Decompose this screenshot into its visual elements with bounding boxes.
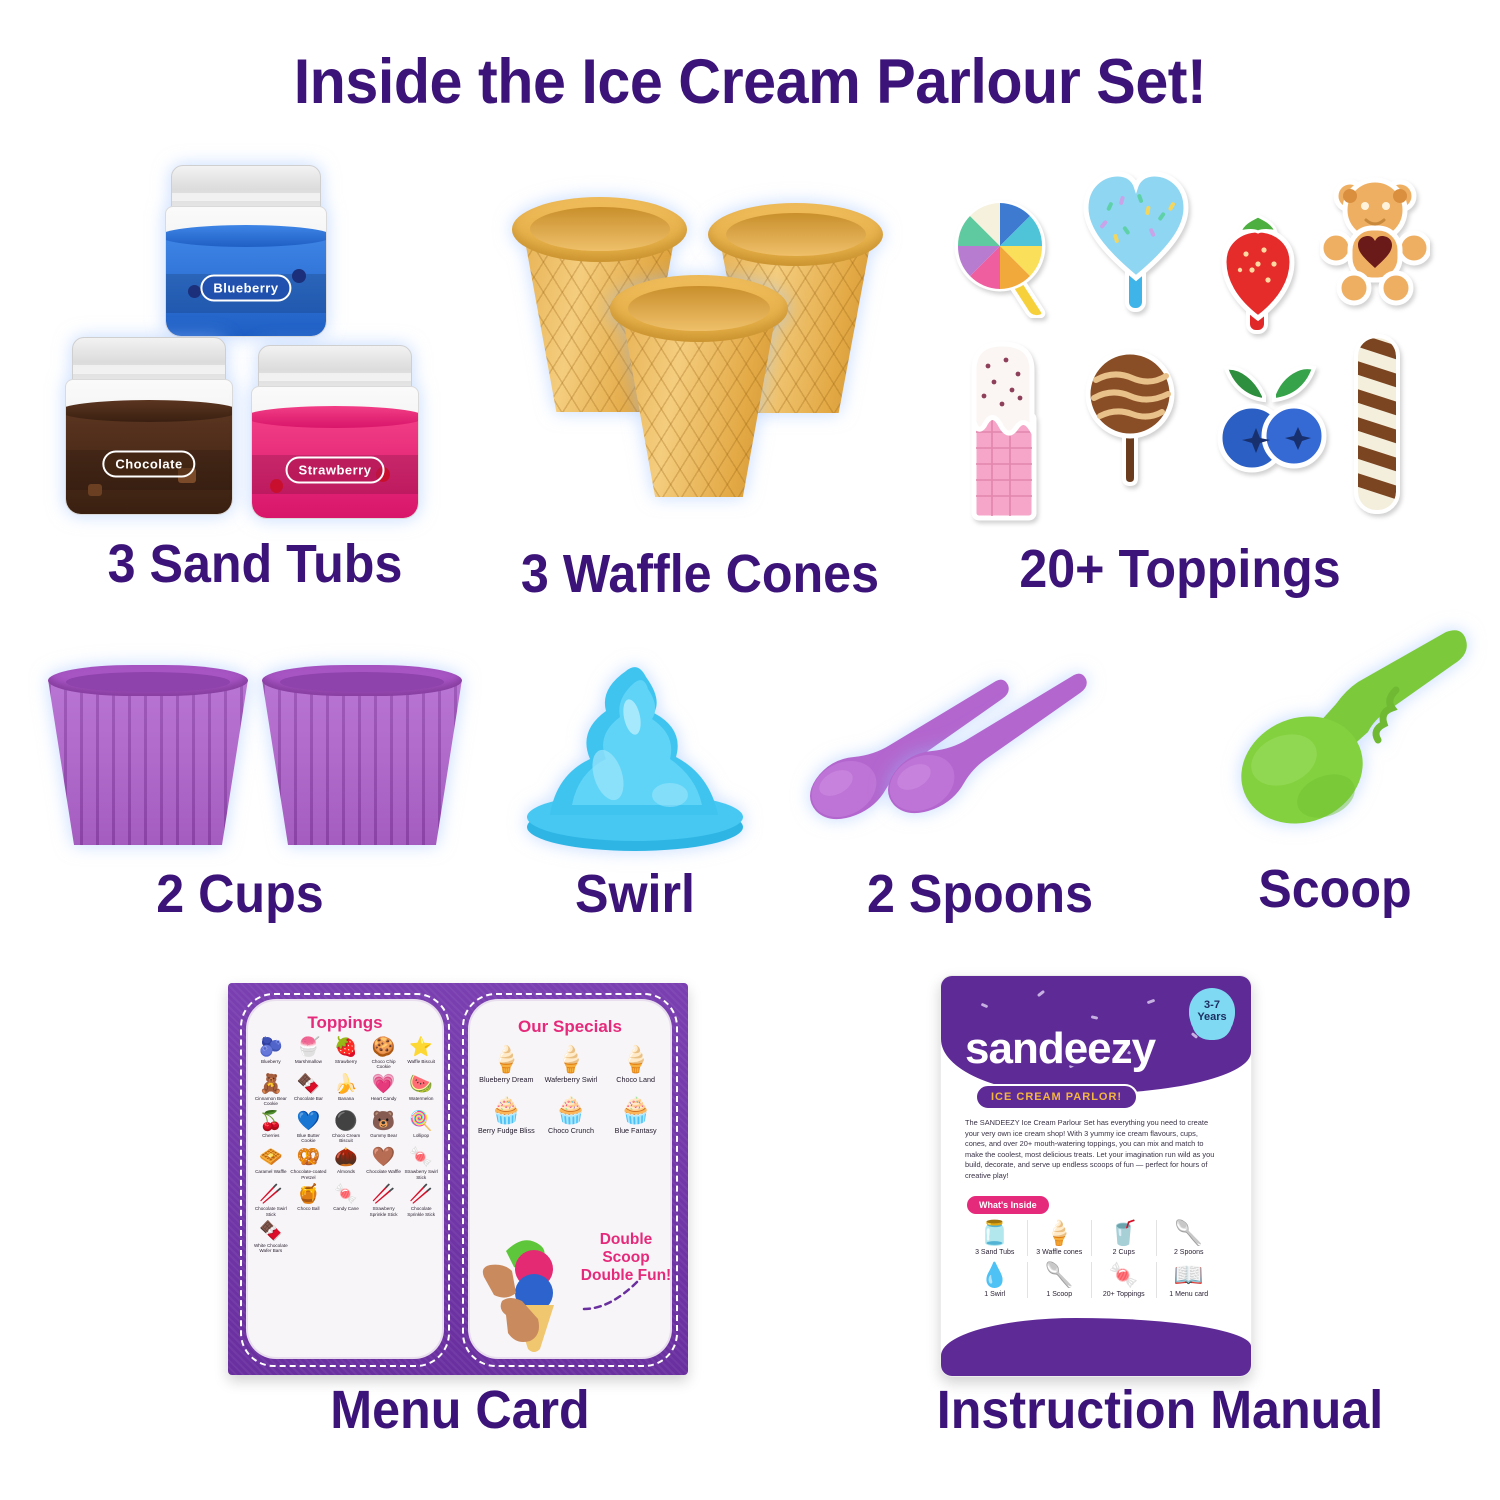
item-caption: Strawberry [335,1059,357,1064]
cup-body [48,679,248,845]
item-glyph: 🥄 [1174,1220,1204,1247]
menu-topping-item: 🍭Lollipop [402,1111,440,1144]
item-caption: Lollipop [413,1133,429,1138]
item-caption: 1 Swirl [984,1291,1005,1298]
item-glyph: 🧁 [619,1096,651,1124]
product-infographic: Inside the Ice Cream Parlour Set! Bluebe… [0,0,1500,1500]
wafer-roll-icon [1338,328,1416,518]
menu-special-item: 🍦Waferberry Swirl [539,1045,604,1084]
item-glyph: 🫐 [259,1037,283,1058]
manual-content-item: 💧1 Swirl [963,1262,1028,1298]
menu-topping-item: 🍬Strawberry Swirl Stick [402,1147,440,1180]
menu-topping-item: 🍌Banana [327,1074,365,1107]
menu-topping-item: 🥨Chocolate-coated Pretzel [290,1147,328,1180]
menu-topping-item: 🧸Cinnamon Bear Cookie [252,1074,290,1107]
tub-body: Blueberry [165,206,327,337]
item-instruction-manual: 3-7Years sandeezy ICE CREAM PARLOR! The … [880,965,1440,1455]
menu-card-art: Toppings 🫐Blueberry🍧Marshmallow🍓Strawber… [228,983,688,1375]
page-title: Inside the Ice Cream Parlour Set! [45,46,1455,118]
item-caption: Strawberry Sprinkle Stick [365,1206,403,1217]
item-spoons: 2 Spoons [790,645,1170,945]
berry-dot [188,285,201,298]
menu-topping-item: 🍫Chocolate Bar [290,1074,328,1107]
item-glyph: 🍦 [490,1045,522,1073]
swirl-mould-icon [520,655,750,855]
item-caption: Gummy Bear [370,1133,397,1138]
menu-topping-item: 💗Heart Candy [365,1074,403,1107]
item-glyph: 🥄 [1044,1262,1074,1289]
blueberries-icon [1212,352,1328,484]
sand-cup [262,665,462,845]
tub-body: Strawberry [251,386,419,519]
tub-blueberry: Blueberry [165,165,325,335]
item-glyph: 🫙 [980,1220,1010,1247]
item-caption: Blueberry [261,1059,281,1064]
item-caption: Choco Land [616,1075,655,1084]
manual-content-item: 🥄1 Scoop [1028,1262,1093,1298]
menu-topping-item: 🫐Blueberry [252,1037,290,1070]
menu-topping-item: 🤎Chocolate Waffle [365,1147,403,1180]
menu-topping-item: 🍒Cherries [252,1111,290,1144]
menu-topping-item: 🍧Marshmallow [290,1037,328,1070]
item-glyph: 🍬 [409,1147,433,1168]
label-swirl: Swirl [482,863,789,925]
menu-topping-item: 💙Blue Butter Cookie [290,1111,328,1144]
item-caption: 2 Cups [1113,1249,1135,1256]
item-menu-card: Toppings 🫐Blueberry🍧Marshmallow🍓Strawber… [200,965,720,1455]
menu-topping-item: 🥢Chocolate Sprinkle Stick [402,1184,440,1217]
item-glyph: 🍬 [334,1184,358,1205]
item-caption: Cinnamon Bear Cookie [252,1096,290,1107]
pink-wafer-bar-icon [954,336,1052,522]
cone-rim [610,275,788,342]
menu-topping-item: ⭐Waffle Biscuit [402,1037,440,1070]
item-glyph: 🍌 [334,1074,358,1095]
item-glyph: 🍒 [259,1111,283,1132]
item-caption: Marshmallow [295,1059,322,1064]
berry-dot [292,269,306,283]
menu-topping-item: 🍓Strawberry [327,1037,365,1070]
spoon-icon [868,659,1208,849]
whats-inside-heading: What's Inside [965,1194,1051,1216]
item-caption: Chocolate Waffle [366,1169,401,1174]
menu-topping-item: 🍬Candy Cane [327,1184,365,1217]
item-glyph: 💧 [980,1262,1010,1289]
tub-flavour-label: Blueberry [200,275,291,302]
cone-rim [708,203,883,266]
cup-inner [280,672,444,692]
item-glyph: 🍓 [334,1037,358,1058]
tub-flavour-label: Chocolate [102,451,195,478]
item-glyph: 🧁 [490,1096,522,1124]
manual-content-item: 🍬20+ Toppings [1092,1262,1157,1298]
item-glyph: 🥢 [259,1184,283,1205]
item-caption: Waffle Biscuit [407,1059,435,1064]
item-glyph: 🍭 [409,1111,433,1132]
sprinkle [1037,990,1045,997]
scoop-icon [1210,620,1480,850]
item-glyph: 🍫 [297,1074,321,1095]
label-spoons: 2 Spoons [803,863,1156,925]
item-caption: White Chocolate Wafer Bars [252,1243,290,1254]
item-waffle-cones: 3 Waffle Cones [490,175,910,605]
menu-topping-item: 🍯Choco Ball [290,1184,328,1217]
manual-footer-band [941,1318,1251,1376]
hand-with-cone-icon [476,1223,586,1355]
tub-chocolate: Chocolate [65,337,231,513]
item-caption: Chocolate Swirl Stick [252,1206,290,1217]
item-glyph: ⭐ [409,1037,433,1058]
item-glyph: 📖 [1174,1262,1204,1289]
item-glyph: 🐻 [372,1111,396,1132]
item-caption: 1 Scoop [1046,1291,1072,1298]
sand-cup [48,665,248,845]
manual-paragraph: The SANDEEZY Ice Cream Parlour Set has e… [965,1118,1217,1182]
manual-content-item: 🥄2 Spoons [1157,1220,1222,1256]
item-caption: Strawberry Swirl Stick [402,1169,440,1180]
item-caption: Choco Ball [297,1206,319,1211]
item-caption: Berry Fudge Bliss [478,1126,535,1135]
swirl-lollipop-icon [950,198,1060,318]
item-caption: 20+ Toppings [1103,1291,1145,1298]
item-glyph: 💙 [297,1111,321,1132]
item-glyph: 🍧 [297,1037,321,1058]
label-waffle-cones: 3 Waffle Cones [505,543,896,605]
menu-special-item: 🍦Blueberry Dream [474,1045,539,1084]
item-caption: Chocolate-coated Pretzel [290,1169,328,1180]
item-glyph: 🧸 [259,1074,283,1095]
item-swirl: Swirl [470,645,800,945]
menu-specials-grid: 🍦Blueberry Dream🍦Waferberry Swirl🍦Choco … [474,1045,668,1135]
specials-heading: Our Specials [468,1017,672,1037]
menu-topping-item: 🍪Choco Chip Cookie [365,1037,403,1070]
item-caption: Watermelon [409,1096,434,1101]
cup-inner [66,672,230,692]
menu-topping-item: 🐻Gummy Bear [365,1111,403,1144]
menu-topping-item: 🍫White Chocolate Wafer Bars [252,1221,290,1254]
manual-content-item: 📖1 Menu card [1157,1262,1222,1298]
item-glyph: 🥨 [297,1147,321,1168]
label-cups: 2 Cups [45,863,436,925]
item-glyph: 🍫 [259,1221,283,1242]
item-caption: Blueberry Dream [479,1075,533,1084]
sprinkle [1191,1032,1198,1039]
double-scoop-line1: Double Scoop [580,1231,672,1267]
item-glyph: 🥢 [409,1184,433,1205]
manual-content-item: 🍦3 Waffle cones [1028,1220,1093,1256]
item-glyph: ⚫ [334,1111,358,1132]
item-caption: 3 Sand Tubs [975,1249,1014,1256]
item-glyph: 💗 [372,1074,396,1095]
item-sand-tubs: Blueberry Chocolate [55,165,455,605]
item-glyph: 🍦 [619,1045,651,1073]
item-glyph: 🌰 [334,1147,358,1168]
item-caption: Candy Cane [333,1206,359,1211]
item-caption: Heart Candy [371,1096,397,1101]
cone-rim [512,197,687,262]
label-menu-card: Menu Card [218,1379,702,1441]
menu-toppings-grid: 🫐Blueberry🍧Marshmallow🍓Strawberry🍪Choco … [252,1037,440,1254]
sprinkle [1147,999,1156,1005]
choco-lollipop-icon [1080,342,1180,488]
menu-topping-item: 🌰Almonds [327,1147,365,1180]
tub-flavour-label: Strawberry [286,456,385,483]
menu-topping-item: 🥢Chocolate Swirl Stick [252,1184,290,1217]
tub-body: Chocolate [65,379,233,515]
item-caption: 1 Menu card [1169,1291,1208,1298]
menu-topping-item: 🧇Caramel Waffle [252,1147,290,1180]
item-glyph: 🧁 [555,1096,587,1124]
item-glyph: 🥤 [1109,1220,1139,1247]
item-caption: Choco Cream Biscuit [327,1133,365,1144]
item-caption: Choco Crunch [548,1126,594,1135]
choco-chunk [88,484,102,496]
item-glyph: 🍦 [555,1045,587,1073]
menu-special-item: 🧁Choco Crunch [539,1096,604,1135]
label-instruction-manual: Instruction Manual [900,1379,1421,1441]
item-glyph: 🍦 [1044,1220,1074,1247]
menu-special-item: 🧁Blue Fantasy [603,1096,668,1135]
menu-special-item: 🧁Berry Fudge Bliss [474,1096,539,1135]
item-glyph: 🍯 [297,1184,321,1205]
item-caption: Banana [338,1096,354,1101]
item-caption: Chocolate Bar [294,1096,323,1101]
label-toppings: 20+ Toppings [957,538,1403,600]
sprinkle [1091,1015,1098,1019]
item-caption: 2 Spoons [1174,1249,1204,1256]
label-sand-tubs: 3 Sand Tubs [69,533,441,595]
item-caption: Almonds [337,1169,355,1174]
item-glyph: 🍉 [409,1074,433,1095]
item-caption: Blue Fantasy [615,1126,657,1135]
item-scoop: Scoop [1190,620,1480,945]
manual-art: 3-7Years sandeezy ICE CREAM PARLOR! The … [940,975,1252,1377]
tub-strawberry: Strawberry [251,345,417,517]
strawberry-topping-icon [1212,208,1304,338]
item-caption: Blue Butter Cookie [290,1133,328,1144]
label-scoop: Scoop [1200,858,1470,920]
brand-subtitle: ICE CREAM PARLOR! [975,1084,1138,1110]
blue-heart-lollipop-icon [1080,166,1192,318]
item-glyph: 🤎 [372,1147,396,1168]
item-cups: 2 Cups [30,645,450,945]
toppings-heading: Toppings [246,1013,444,1033]
item-caption: Caramel Waffle [255,1169,286,1174]
whats-inside-grid: 🫙3 Sand Tubs🍦3 Waffle cones🥤2 Cups🥄2 Spo… [963,1220,1221,1298]
gingerbread-bear-icon [1320,170,1430,310]
menu-special-item: 🍦Choco Land [603,1045,668,1084]
waffle-cones-art [490,175,910,605]
waffle-cone [610,275,788,497]
item-caption: Cherries [262,1133,279,1138]
item-glyph: 🍬 [1109,1262,1139,1289]
sprinkle [981,1003,989,1009]
menu-topping-item: 🍉Watermelon [402,1074,440,1107]
item-caption: Waferberry Swirl [545,1075,598,1084]
item-caption: Choco Chip Cookie [365,1059,403,1070]
brand-wordmark: sandeezy [965,1024,1155,1074]
item-glyph: 🧇 [259,1147,283,1168]
item-toppings: 20+ Toppings [940,160,1420,605]
age-badge: 3-7Years [1189,988,1235,1034]
item-caption: 3 Waffle cones [1036,1249,1082,1256]
manual-content-item: 🥤2 Cups [1092,1220,1157,1256]
cup-body [262,679,462,845]
item-glyph: 🥢 [372,1184,396,1205]
item-glyph: 🍪 [372,1037,396,1058]
menu-topping-item: ⚫Choco Cream Biscuit [327,1111,365,1144]
dashed-arrow-icon [580,1275,650,1315]
manual-content-item: 🫙3 Sand Tubs [963,1220,1028,1256]
menu-topping-item: 🥢Strawberry Sprinkle Stick [365,1184,403,1217]
age-badge-text: 3-7Years [1197,999,1226,1023]
item-caption: Chocolate Sprinkle Stick [402,1206,440,1217]
